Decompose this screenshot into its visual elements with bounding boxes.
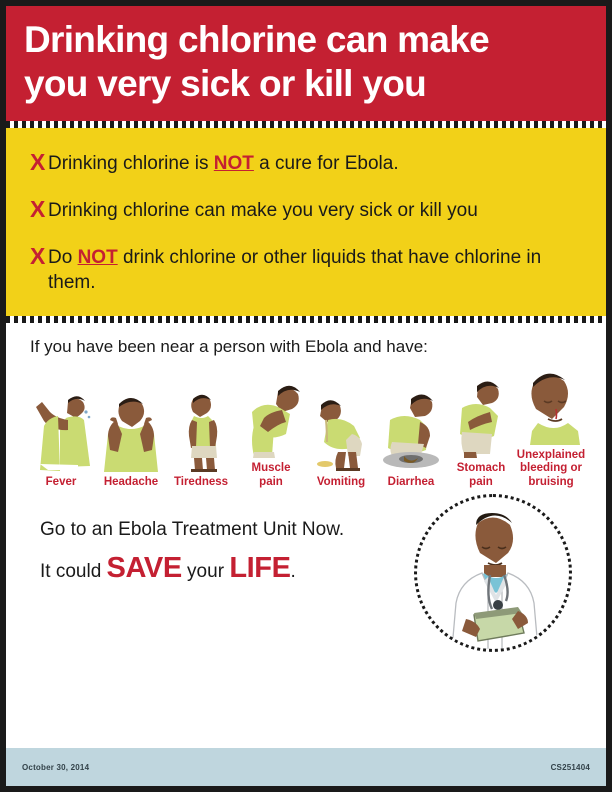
person-holding-shoulder-icon — [236, 376, 306, 458]
symptom-label: Fever — [26, 476, 96, 490]
person-wiping-forehead-icon — [26, 390, 96, 472]
warning-text-before: Drinking chlorine can make you very sick… — [48, 200, 478, 221]
title-line-1: Drinking chlorine can make — [24, 19, 489, 60]
symptom-item: Fever — [26, 390, 96, 490]
cta-line-2: It could SAVE your LIFE. — [40, 547, 390, 589]
symptom-label: Headache — [96, 476, 166, 490]
person-vomiting-icon — [306, 390, 376, 472]
warning-item: X Drinking chlorine can make you very si… — [26, 197, 586, 224]
cta-section: Go to an Ebola Treatment Unit Now. It co… — [6, 490, 606, 618]
cta-line2-middle: your — [182, 561, 230, 582]
person-bleeding-face-icon — [516, 363, 586, 445]
symptom-item: Headache — [96, 390, 166, 490]
warning-emphasis: NOT — [214, 153, 254, 174]
warning-text: Drinking chlorine is NOT a cure for Ebol… — [48, 150, 586, 177]
warning-item: X Drinking chlorine is NOT a cure for Eb… — [26, 150, 586, 177]
cta-line2-before: It could — [40, 561, 107, 582]
footer-code: CS251404 — [551, 763, 590, 772]
title-line-2: you very sick or kill you — [24, 62, 588, 106]
cta-line-1: Go to an Ebola Treatment Unit Now. — [40, 516, 390, 544]
poster-header: Drinking chlorine can make you very sick… — [6, 6, 606, 121]
warning-text-before: Do — [48, 247, 78, 268]
symptom-label: Tiredness — [166, 476, 236, 490]
person-holding-head-icon — [96, 390, 166, 472]
person-squatting-latrine-icon — [376, 390, 446, 472]
cta-line2-after: . — [291, 561, 296, 582]
symptom-item: Tiredness — [166, 390, 236, 490]
symptom-row: Fever Headache — [24, 363, 588, 490]
warnings-panel: X Drinking chlorine is NOT a cure for Eb… — [6, 128, 606, 316]
warning-text-after: a cure for Ebola. — [254, 153, 399, 174]
symptoms-intro: If you have been near a person with Ebol… — [30, 337, 588, 357]
cta-text: Go to an Ebola Treatment Unit Now. It co… — [40, 516, 390, 590]
x-mark-icon: X — [26, 244, 48, 269]
symptom-label: Vomiting — [306, 476, 376, 490]
footer-date: October 30, 2014 — [22, 763, 89, 772]
x-mark-icon: X — [26, 150, 48, 175]
warning-text: Drinking chlorine can make you very sick… — [48, 197, 586, 224]
person-slouching-icon — [166, 390, 236, 472]
poster-footer: October 30, 2014 CS251404 — [6, 748, 606, 786]
symptom-item: Unexplained bleeding or bruising — [516, 363, 586, 490]
warning-item: X Do NOT drink chlorine or other liquids… — [26, 244, 586, 296]
person-holding-abdomen-icon — [446, 376, 516, 458]
symptom-label: Diarrhea — [376, 476, 446, 490]
cta-save-word: SAVE — [107, 552, 182, 584]
divider-top — [6, 121, 606, 128]
symptom-item: Stomach pain — [446, 376, 516, 489]
warning-emphasis: NOT — [78, 247, 118, 268]
symptom-item: Diarrhea — [376, 390, 446, 490]
divider-bottom — [6, 316, 606, 323]
cta-life-word: LIFE — [229, 552, 290, 584]
symptom-label: Unexplained bleeding or bruising — [516, 449, 586, 490]
poster: Drinking chlorine can make you very sick… — [0, 0, 612, 792]
symptom-item: Vomiting — [306, 390, 376, 490]
warning-text: Do NOT drink chlorine or other liquids t… — [48, 244, 586, 296]
symptom-label: Muscle pain — [236, 462, 306, 489]
doctor-with-clipboard-icon — [414, 494, 572, 652]
symptom-item: Muscle pain — [236, 376, 306, 489]
warning-text-after: drink chlorine or other liquids that hav… — [48, 247, 541, 294]
symptom-label: Stomach pain — [446, 462, 516, 489]
warning-text-before: Drinking chlorine is — [48, 153, 214, 174]
page-title: Drinking chlorine can make you very sick… — [24, 18, 588, 105]
x-mark-icon: X — [26, 197, 48, 222]
symptoms-section: If you have been near a person with Ebol… — [6, 323, 606, 490]
